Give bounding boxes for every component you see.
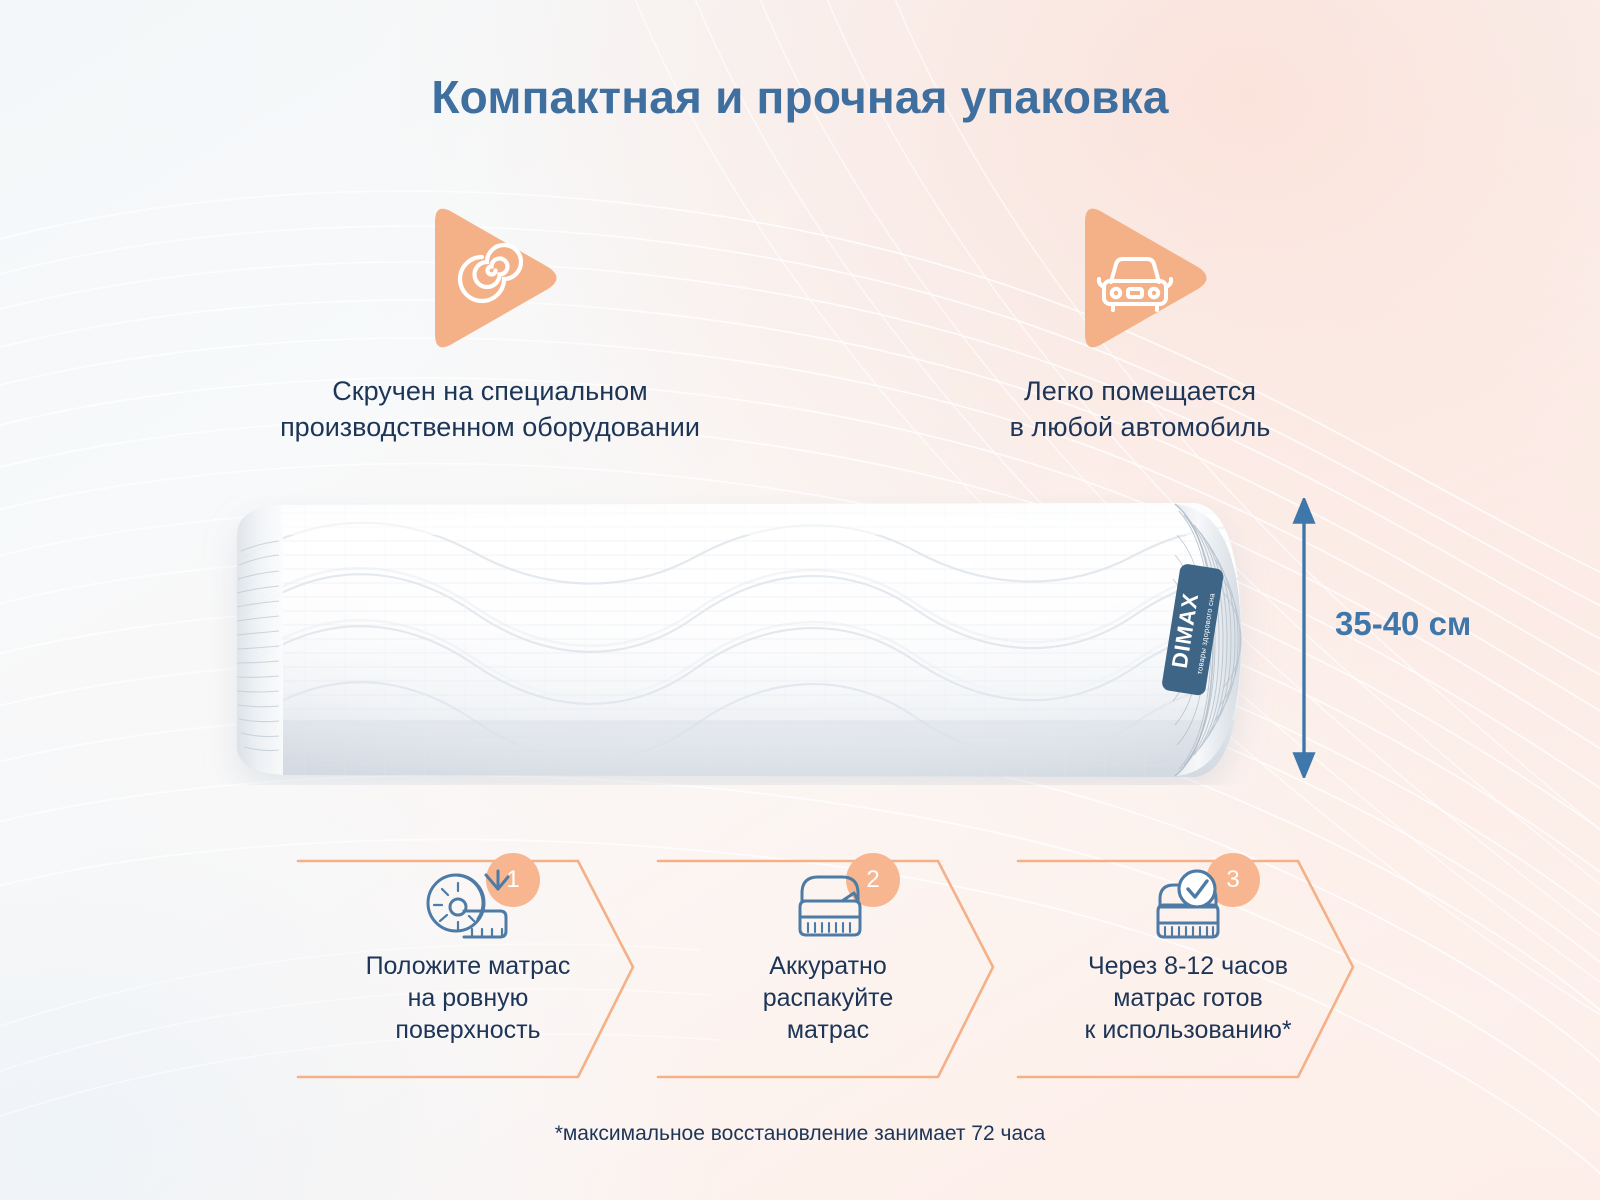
unpack-mattress-icon (780, 867, 876, 947)
dimension-label: 35-40 см (1335, 605, 1471, 643)
infographic-canvas: Компактная и прочная упаковка Скручен на… (0, 0, 1600, 1200)
footnote: *максимальное восстановление занимает 72… (0, 1122, 1600, 1146)
step-3: 3 Через 8-12 часов мат (1008, 845, 1368, 1090)
step-2: 2 Аккуратно распакуйте матрас (648, 845, 1008, 1090)
feature-block-car: Легко помещается в любой автомобиль (840, 200, 1440, 446)
rounded-triangle-right-shape (1055, 200, 1225, 360)
feature-icon-wrap (155, 200, 825, 360)
feature-caption: Легко помещается в любой автомобиль (840, 374, 1440, 446)
feature-caption: Скручен на специальном производственном … (155, 374, 825, 446)
step-1: 1 (288, 845, 648, 1090)
step-text: Через 8-12 часов матрас готов к использо… (998, 950, 1378, 1046)
unrolling-mattress-icon (420, 867, 516, 947)
rounded-triangle-right-shape (405, 200, 575, 360)
steps-row: 1 (0, 845, 1600, 1095)
page-title: Компактная и прочная упаковка (0, 70, 1600, 124)
feature-block-rolled: Скручен на специальном производственном … (155, 200, 825, 446)
step-text: Положите матрас на ровную поверхность (288, 950, 648, 1046)
feature-icon-wrap (840, 200, 1440, 360)
mattress-ready-check-icon (1140, 867, 1236, 947)
step-text: Аккуратно распакуйте матрас (648, 950, 1008, 1046)
rolled-mattress-image: DIMAX товары здорового сна (175, 495, 1280, 785)
roll-left-edge (237, 505, 283, 775)
